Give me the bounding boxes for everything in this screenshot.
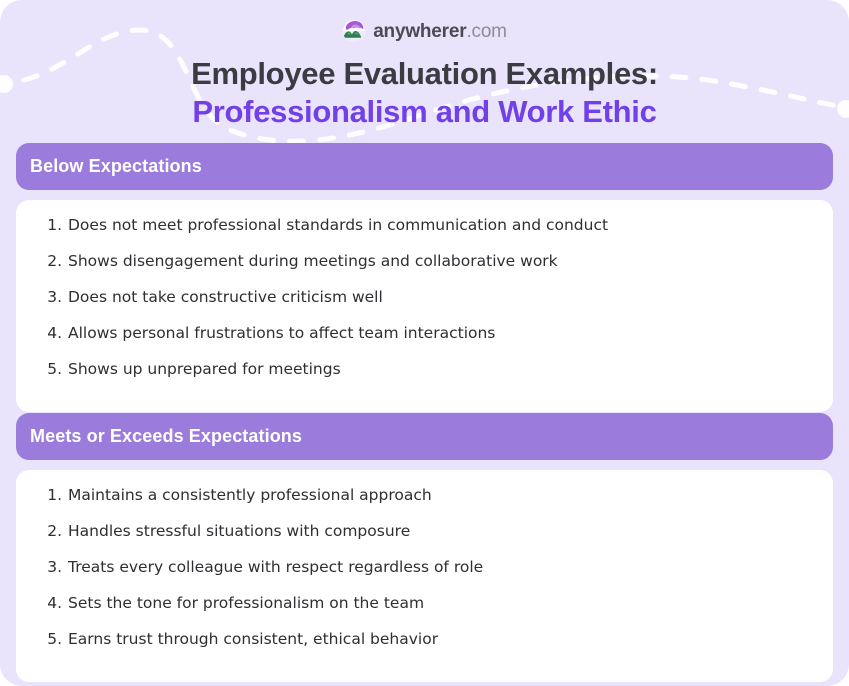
globe-badge-logo-icon (342, 19, 366, 43)
page-title-line2: Professionalism and Work Ethic (0, 93, 849, 131)
list-item-number: 4. (36, 324, 68, 342)
list-item-text: Treats every colleague with respect rega… (68, 558, 483, 576)
section-header-label: Below Expectations (30, 156, 202, 177)
brand-tld: .com (466, 21, 506, 42)
list-item: 5. Shows up unprepared for meetings (36, 360, 813, 396)
list-item-text: Maintains a consistently professional ap… (68, 486, 432, 504)
list-item: 5. Earns trust through consistent, ethic… (36, 630, 813, 666)
list-item-text: Does not take constructive criticism wel… (68, 288, 383, 306)
section-header-meets-or-exceeds-expectations: Meets or Exceeds Expectations (16, 413, 833, 460)
list-item-text: Earns trust through consistent, ethical … (68, 630, 438, 648)
list-item-number: 2. (36, 522, 68, 540)
list-item-number: 5. (36, 630, 68, 648)
list-below-expectations: 1. Does not meet professional standards … (36, 216, 813, 396)
section-header-below-expectations: Below Expectations (16, 143, 833, 190)
list-meets-or-exceeds-expectations: 1. Maintains a consistently professional… (36, 486, 813, 666)
list-item-text: Sets the tone for professionalism on the… (68, 594, 424, 612)
section-meets-or-exceeds-expectations: Meets or Exceeds Expectations 1. Maintai… (16, 413, 833, 682)
list-item-number: 1. (36, 216, 68, 234)
brand-name: anywherer (373, 21, 466, 42)
list-item: 4. Allows personal frustrations to affec… (36, 324, 813, 360)
brand-wordmark: anywherer.com (373, 22, 507, 41)
list-item: 1. Maintains a consistently professional… (36, 486, 813, 522)
list-item-text: Shows disengagement during meetings and … (68, 252, 558, 270)
list-item-number: 3. (36, 558, 68, 576)
list-item: 4. Sets the tone for professionalism on … (36, 594, 813, 630)
section-below-expectations: Below Expectations 1. Does not meet prof… (16, 143, 833, 412)
brand-logo: anywherer.com (0, 17, 849, 45)
list-item: 3. Does not take constructive criticism … (36, 288, 813, 324)
list-item: 2. Handles stressful situations with com… (36, 522, 813, 558)
list-item-number: 3. (36, 288, 68, 306)
list-item-number: 5. (36, 360, 68, 378)
section-card-below-expectations: 1. Does not meet professional standards … (16, 200, 833, 412)
list-item-number: 1. (36, 486, 68, 504)
section-header-label: Meets or Exceeds Expectations (30, 426, 302, 447)
list-item-number: 2. (36, 252, 68, 270)
list-item-text: Allows personal frustrations to affect t… (68, 324, 495, 342)
list-item-number: 4. (36, 594, 68, 612)
page-title-line1: Employee Evaluation Examples: (0, 55, 849, 93)
page-title: Employee Evaluation Examples: Profession… (0, 55, 849, 131)
list-item: 1. Does not meet professional standards … (36, 216, 813, 252)
list-item: 2. Shows disengagement during meetings a… (36, 252, 813, 288)
list-item-text: Does not meet professional standards in … (68, 216, 608, 234)
section-card-meets-or-exceeds-expectations: 1. Maintains a consistently professional… (16, 470, 833, 682)
list-item-text: Handles stressful situations with compos… (68, 522, 410, 540)
infographic-page: anywherer.com Employee Evaluation Exampl… (0, 0, 849, 686)
list-item-text: Shows up unprepared for meetings (68, 360, 341, 378)
list-item: 3. Treats every colleague with respect r… (36, 558, 813, 594)
